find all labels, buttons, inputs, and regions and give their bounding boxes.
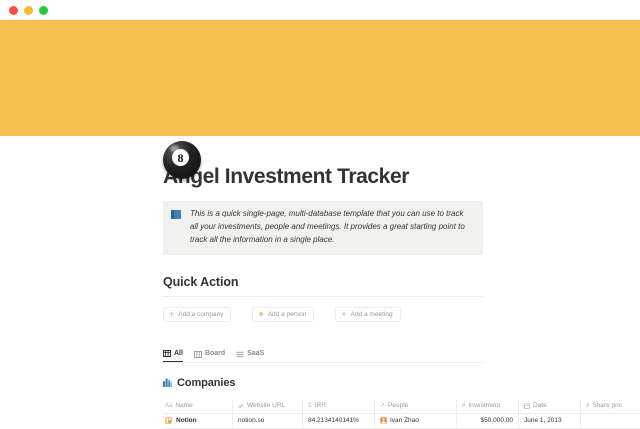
table-header-row: Aa Name Website URL Σ IRR ↗ People xyxy=(163,399,640,414)
tab-all-label: All xyxy=(174,350,183,357)
page-title[interactable]: Angel Investment Tracker xyxy=(163,165,483,188)
column-header-people[interactable]: ↗ People xyxy=(375,399,457,413)
tab-board-label: Board xyxy=(205,350,225,357)
list-view-icon xyxy=(236,345,244,363)
plus-icon: + xyxy=(169,310,174,319)
companies-table: Aa Name Website URL Σ IRR ↗ People xyxy=(163,399,640,429)
cell-investment[interactable]: $50,000.00 xyxy=(457,414,519,428)
column-header-share-price-label: Share pric xyxy=(592,402,622,409)
database-view-tabs: All Board xyxy=(163,347,483,363)
page-body: 8 Angel Investment Tracker This is a qui… xyxy=(0,165,640,429)
column-header-irr[interactable]: Σ IRR xyxy=(303,399,375,413)
cell-name[interactable]: Notion xyxy=(163,414,233,428)
quick-action-buttons: + Add a company + Add a person + Add a m… xyxy=(163,307,483,322)
column-header-name[interactable]: Aa Name xyxy=(163,399,233,413)
table-row[interactable]: Notion notion.so 84.2134140141% Ivan xyxy=(163,414,640,429)
column-header-website-url-label: Website URL xyxy=(247,402,285,409)
add-company-label: Add a company xyxy=(178,311,223,318)
column-header-date-label: Date xyxy=(533,402,547,409)
cell-date[interactable]: June 1, 2013 xyxy=(519,414,581,428)
add-company-button[interactable]: + Add a company xyxy=(163,307,231,322)
cell-name-text: Notion xyxy=(176,417,197,424)
person-avatar xyxy=(380,417,387,424)
person-tag: Ivan Zhao xyxy=(380,417,419,424)
add-meeting-button[interactable]: + Add a meeting xyxy=(335,307,400,322)
eight-ball-number: 8 xyxy=(172,149,189,166)
notion-page-icon xyxy=(165,417,172,424)
date-type-icon xyxy=(524,403,530,409)
page-cover[interactable] xyxy=(0,20,640,136)
number-type-icon: # xyxy=(462,403,465,409)
column-header-people-label: People xyxy=(388,402,408,409)
plus-icon: + xyxy=(341,310,346,319)
number-type-icon: # xyxy=(586,403,589,409)
maximize-window-button[interactable] xyxy=(39,6,48,15)
add-person-label: Add a person xyxy=(268,311,307,318)
column-header-share-price[interactable]: # Share pric xyxy=(581,399,640,413)
cell-people[interactable]: Ivan Zhao xyxy=(375,414,457,428)
minimize-window-button[interactable] xyxy=(24,6,33,15)
close-window-button[interactable] xyxy=(9,6,18,15)
link-type-icon xyxy=(238,403,244,409)
flag-icon xyxy=(171,208,183,247)
database-title: Companies xyxy=(177,377,235,389)
tab-board[interactable]: Board xyxy=(194,347,225,362)
add-meeting-label: Add a meeting xyxy=(351,311,393,318)
board-view-icon xyxy=(194,345,202,363)
callout-text: This is a quick single-page, multi-datab… xyxy=(190,208,473,247)
column-header-investment[interactable]: # Investment xyxy=(457,399,519,413)
companies-chart-icon xyxy=(163,374,172,392)
relation-type-icon: ↗ xyxy=(380,402,385,409)
formula-type-icon: Σ xyxy=(308,403,312,409)
table-view-icon xyxy=(163,344,171,362)
cell-people-text: Ivan Zhao xyxy=(390,417,419,424)
database-title-row[interactable]: Companies xyxy=(163,374,483,392)
cell-website-url[interactable]: notion.so xyxy=(233,414,303,428)
column-header-investment-label: Investment xyxy=(468,402,500,409)
tab-saas[interactable]: SaaS xyxy=(236,347,264,362)
window-titlebar xyxy=(0,0,640,20)
tab-saas-label: SaaS xyxy=(247,350,264,357)
add-person-button[interactable]: + Add a person xyxy=(252,307,314,322)
section-divider xyxy=(163,296,483,297)
column-header-irr-label: IRR xyxy=(315,402,326,409)
column-header-website-url[interactable]: Website URL xyxy=(233,399,303,413)
page-icon-eight-ball[interactable]: 8 xyxy=(163,141,201,179)
callout-block[interactable]: This is a quick single-page, multi-datab… xyxy=(163,201,483,255)
cell-irr[interactable]: 84.2134140141% xyxy=(303,414,375,428)
quick-action-heading: Quick Action xyxy=(163,275,483,289)
column-header-name-label: Name xyxy=(175,402,192,409)
plus-icon: + xyxy=(258,310,263,319)
tab-all[interactable]: All xyxy=(163,347,183,362)
cell-share-price[interactable] xyxy=(581,414,640,428)
title-type-icon: Aa xyxy=(165,403,172,409)
column-header-date[interactable]: Date xyxy=(519,399,581,413)
